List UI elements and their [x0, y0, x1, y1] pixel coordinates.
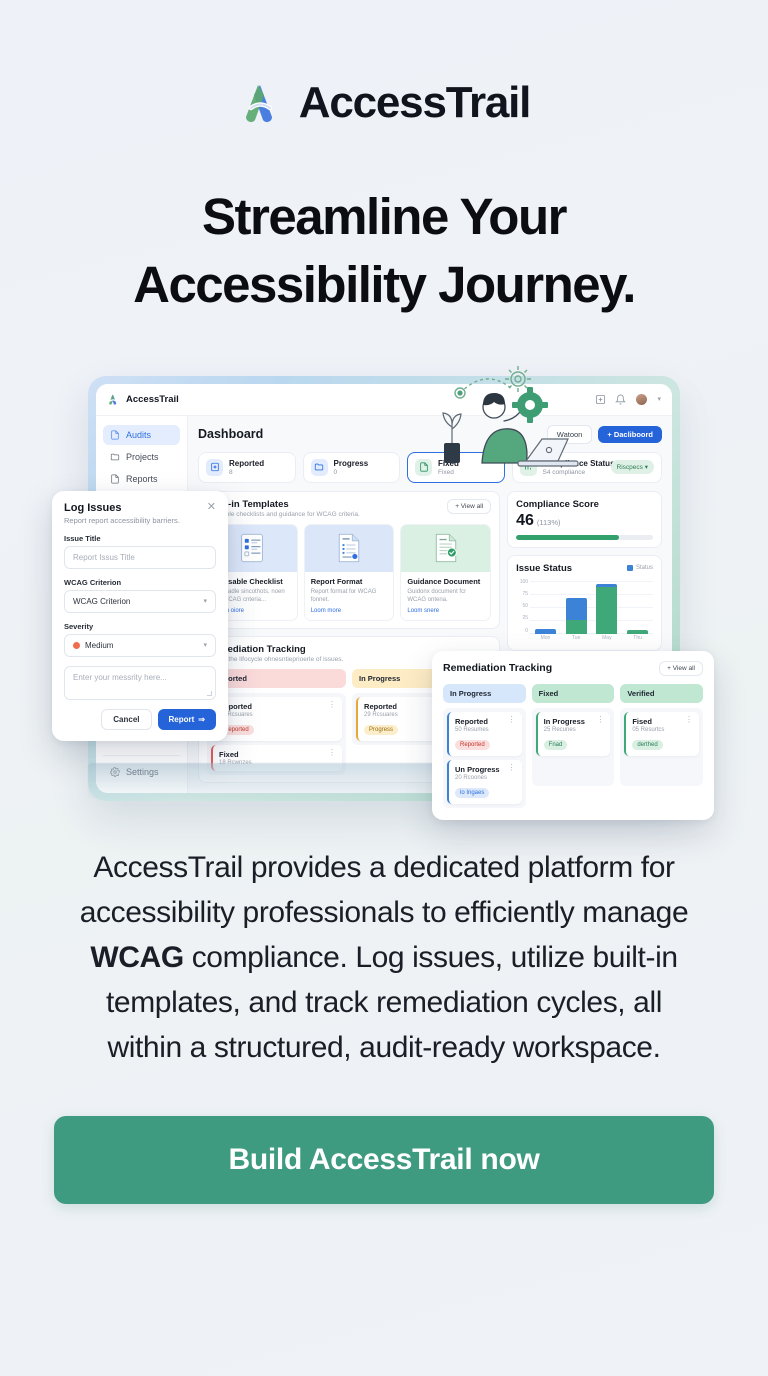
remediation-card[interactable]: Fised 05 Resurtcs derthed ⋮ — [624, 712, 699, 756]
resize-handle[interactable] — [207, 691, 212, 696]
add-dashboard-label: Dacliboord — [614, 430, 653, 439]
wcag-criterion-value: WCAG Criterion — [73, 597, 130, 606]
stat-label: Progress — [334, 459, 369, 468]
card-subtitle: 05 Resurtcs — [632, 727, 681, 733]
column-header: Fixed — [532, 684, 615, 703]
brand-name: AccessTrail — [299, 78, 530, 128]
card-subtitle: 20 Rcoones — [455, 775, 504, 781]
remediation-column-in-progress: In Progress Reported 50 Resumes Reported… — [443, 684, 526, 808]
sidebar-item-reports[interactable]: Reports — [103, 469, 180, 489]
templates-view-all-button[interactable]: + View all — [447, 499, 491, 514]
report-document-icon — [110, 474, 120, 484]
folder-icon — [110, 452, 120, 462]
compliance-filter-label: Riscpecs — [617, 464, 643, 471]
description-part-2: compliance. Log issues, utilize built-in… — [106, 941, 678, 1064]
chevron-down-icon[interactable]: ▾ — [657, 395, 661, 403]
chart-x-axis: MonTueMayThu — [530, 634, 653, 643]
remediation-card[interactable]: Un Progress 20 Rcoones lo Ingaes ⋮ — [447, 760, 522, 804]
report-button[interactable]: Report ⇒ — [158, 709, 216, 730]
log-issues-modal: Log Issues Report report accessibility b… — [52, 491, 228, 741]
template-card[interactable]: Report Format Report format for WCAG fon… — [304, 524, 395, 621]
sidebar-item-label: Reports — [126, 474, 158, 484]
issue-description-textarea[interactable]: Enter your messrity here... — [64, 666, 216, 700]
severity-select[interactable]: Medium ▾ — [64, 634, 216, 657]
card-title: Fixed — [219, 750, 324, 759]
card-title: In Progress — [544, 717, 593, 726]
more-options-icon[interactable]: ⋮ — [596, 717, 604, 723]
apps-icon[interactable] — [595, 394, 606, 405]
remediation-view-all-button[interactable]: + View all — [659, 661, 703, 676]
issue-status-title: Issue Status — [516, 563, 572, 574]
x-tick: May — [596, 635, 617, 641]
chevron-down-icon: ▾ — [203, 597, 207, 605]
chevron-down-icon: ▾ — [203, 641, 207, 649]
compliance-progress-bar — [516, 535, 653, 540]
card-subtitle: 25 Recunes — [544, 727, 593, 733]
field-label-issue-title: Issue Title — [64, 534, 216, 543]
modal-subtitle: Report report accessibility barriers. — [64, 516, 180, 525]
compliance-score-percent: (113%) — [537, 518, 561, 527]
build-accesstrail-button[interactable]: Build AccessTrail now — [54, 1116, 714, 1204]
remediation-column-fixed: Fixed In Progress 25 Recunes Fnad ⋮ — [532, 684, 615, 808]
sidebar-item-audits[interactable]: Audits — [103, 425, 180, 445]
issue-title-placeholder: Report Issus Title — [73, 553, 135, 562]
remediation-card[interactable]: Reported 40 Rcsuares Reported ⋮ — [211, 697, 342, 741]
card-title: Reported — [455, 717, 504, 726]
bar-segment-status — [566, 598, 587, 619]
remediation-float-title: Remediation Tracking — [443, 662, 552, 674]
stat-value: 0 — [334, 469, 369, 476]
card-title: Fised — [632, 717, 681, 726]
report-doc-icon — [305, 525, 394, 572]
progress-folder-icon — [311, 459, 328, 476]
description-part-1: AccessTrail provides a dedicated platfor… — [80, 851, 689, 929]
template-desc: Report format for WCAG fonnet. — [311, 588, 388, 605]
chart-bar-tue — [566, 579, 587, 634]
topbar-actions: ▾ — [595, 393, 661, 406]
issue-status-chart: 100 75 50 25 0 — [516, 579, 653, 643]
wcag-criterion-select[interactable]: WCAG Criterion ▾ — [64, 590, 216, 613]
hero-illustration — [430, 357, 590, 477]
dashboard-mockup: AccessTrail ▾ Audits Pr — [0, 371, 768, 831]
chart-plot-area: MonTueMayThu — [530, 579, 653, 643]
bar-segment-resolved — [596, 587, 617, 634]
stat-value: 8 — [229, 469, 264, 476]
remediation-card[interactable]: Reported 50 Resumes Reported ⋮ — [447, 712, 522, 756]
template-learn-more-link[interactable]: Loom snere — [407, 608, 484, 614]
cancel-button[interactable]: Cancel — [101, 709, 151, 730]
brand-header: AccessTrail — [0, 0, 768, 128]
chart-y-axis: 100 75 50 25 0 — [516, 579, 530, 643]
report-button-label: Report — [169, 715, 195, 724]
template-name: Report Format — [311, 577, 388, 586]
stat-label: Reported — [229, 459, 264, 468]
card-title: Reported — [219, 702, 324, 711]
legend-label: Status — [636, 565, 653, 571]
template-desc: Guidonx document fcr WCAG ontena. — [407, 588, 484, 605]
description-text: AccessTrail provides a dedicated platfor… — [44, 845, 724, 1070]
arrow-right-icon: ⇒ — [198, 715, 205, 724]
chart-bar-mon — [535, 579, 556, 634]
card-subtitle: 40 Rcsuares — [219, 712, 324, 718]
severity-dot-icon — [73, 642, 80, 649]
chart-bar-thu — [627, 579, 648, 634]
template-name: Guidance Document — [407, 577, 484, 586]
templates-title: Built-in Templates — [207, 499, 360, 510]
verified-doc-icon — [401, 525, 490, 572]
sidebar-item-projects[interactable]: Projects — [103, 447, 180, 467]
y-tick: 75 — [516, 591, 528, 597]
template-learn-more-link[interactable]: Loom more — [311, 608, 388, 614]
y-tick: 50 — [516, 603, 528, 609]
chart-bar-may — [596, 579, 617, 634]
more-options-icon[interactable]: ⋮ — [328, 750, 336, 756]
compliance-score-panel: Compliance Score 46 (113%) — [507, 491, 662, 548]
more-options-icon[interactable]: ⋮ — [328, 702, 336, 708]
avatar[interactable] — [635, 393, 648, 406]
bell-icon[interactable] — [615, 394, 626, 405]
compliance-score-title: Compliance Score — [516, 499, 653, 510]
compliance-score-value: 46 — [516, 513, 534, 529]
headline-line-2: Accessibility Journey. — [133, 256, 635, 313]
textarea-placeholder: Enter your messrity here... — [73, 673, 167, 682]
field-label-wcag-criterion: WCAG Criterion — [64, 578, 216, 587]
app-logo-icon — [107, 393, 120, 406]
description-emphasis: WCAG — [90, 941, 183, 974]
templates-subtitle: Reusable checklists and guidance for WCA… — [207, 511, 360, 518]
dashboard-title: Dashboard — [198, 427, 263, 441]
add-dashboard-button[interactable]: + Dacliboord — [598, 426, 662, 443]
page-title: Streamline Your Accessibility Journey. — [0, 183, 768, 319]
legend-swatch — [627, 565, 633, 571]
field-label-severity: Severity — [64, 622, 216, 631]
severity-value: Medium — [85, 641, 113, 650]
sidebar-item-label: Projects — [126, 452, 159, 462]
column-header: In Progress — [443, 684, 526, 703]
compliance-filter-dropdown[interactable]: Riscpecs ▾ — [611, 460, 654, 474]
remediation-tracking-float-card: Remediation Tracking + View all In Progr… — [432, 651, 714, 820]
issue-title-input[interactable]: Report Issus Title — [64, 546, 216, 569]
x-tick: Mon — [535, 635, 556, 641]
app-title: AccessTrail — [126, 394, 179, 405]
more-options-icon[interactable]: ⋮ — [685, 717, 693, 723]
more-options-icon[interactable]: ⋮ — [508, 717, 516, 723]
remediation-card[interactable]: In Progress 25 Recunes Fnad ⋮ — [536, 712, 611, 756]
template-card[interactable]: Guidance Document Guidonx document fcr W… — [400, 524, 491, 621]
audit-document-icon — [110, 430, 120, 440]
y-tick: 25 — [516, 615, 528, 621]
card-subtitle: 50 Resumes — [455, 727, 504, 733]
modal-title: Log Issues — [64, 502, 180, 514]
card-tag: lo Ingaes — [455, 788, 489, 798]
view-all-label: View all — [673, 665, 695, 672]
close-icon[interactable]: ✕ — [207, 502, 216, 513]
column-header: Verified — [620, 684, 703, 703]
card-tag: Progress — [364, 725, 398, 735]
headline-line-1: Streamline Your — [202, 188, 566, 245]
chart-bars — [530, 579, 653, 634]
x-tick: Thu — [627, 635, 648, 641]
y-tick: 0 — [516, 628, 528, 634]
view-all-label: View all — [461, 503, 483, 510]
sidebar-item-label: Audits — [126, 430, 151, 440]
card-tag: Fnad — [544, 740, 568, 750]
issue-status-panel: Issue Status Status 100 75 — [507, 555, 662, 651]
y-tick: 100 — [516, 579, 528, 585]
card-tag: derthed — [632, 740, 662, 750]
remediation-column-verified: Verified Fised 05 Resurtcs derthed ⋮ — [620, 684, 703, 808]
more-options-icon[interactable]: ⋮ — [508, 765, 516, 771]
card-tag: Reported — [455, 740, 490, 750]
card-title: Un Progress — [455, 765, 504, 774]
chart-legend: Status — [627, 565, 653, 571]
x-tick: Tue — [566, 635, 587, 641]
accesstrail-logo-icon — [238, 79, 286, 127]
reported-icon — [206, 459, 223, 476]
bar-segment-resolved — [566, 620, 587, 634]
stat-card-reported[interactable]: Reported 8 — [198, 452, 296, 483]
built-in-templates-panel: Built-in Templates Reusable checklists a… — [198, 491, 500, 629]
stat-card-progress[interactable]: Progress 0 — [303, 452, 401, 483]
